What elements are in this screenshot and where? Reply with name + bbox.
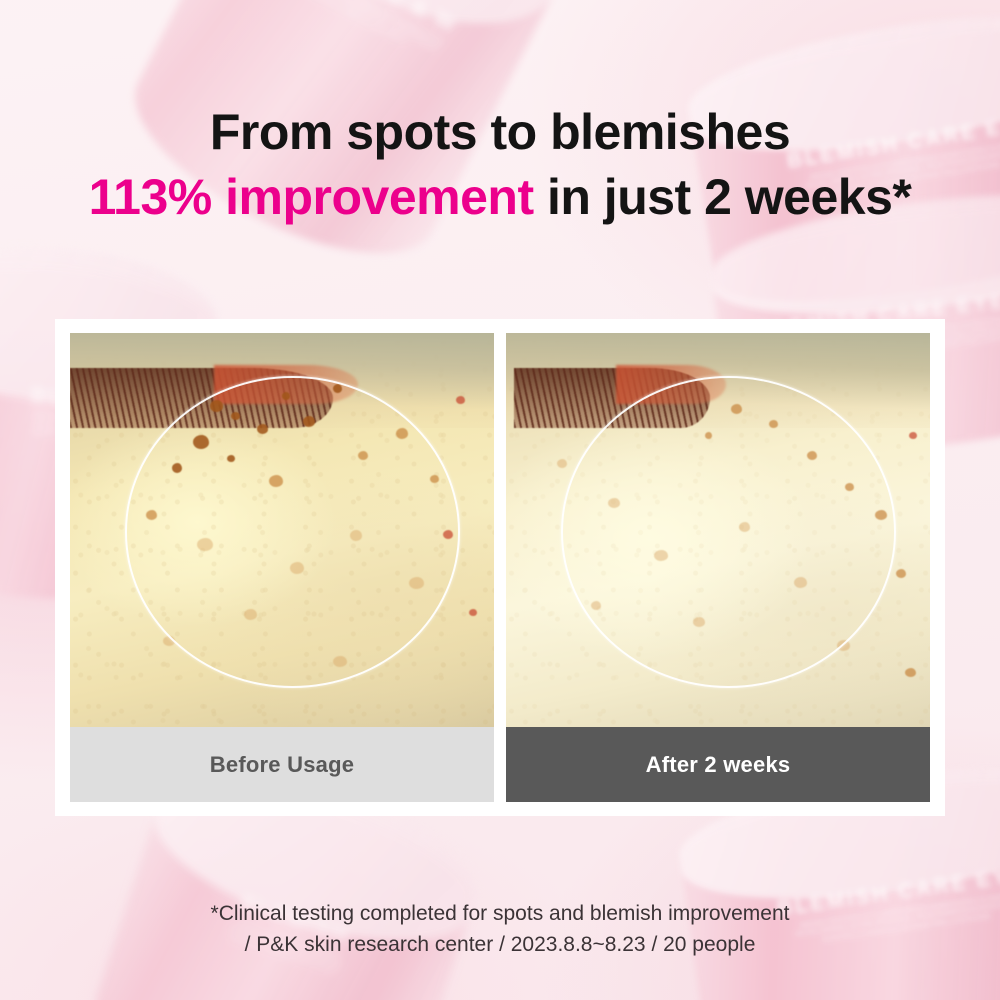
footnote: *Clinical testing completed for spots an… — [0, 898, 1000, 960]
highlight-circle-after — [561, 376, 896, 687]
red-blemish-spot — [456, 396, 465, 404]
comparison-panes: Before Usage — [70, 333, 930, 802]
before-after-comparison-card: Before Usage — [55, 319, 945, 816]
footnote-line-1: *Clinical testing completed for spots an… — [0, 898, 1000, 929]
headline-line-1: From spots to blemishes — [0, 101, 1000, 163]
red-blemish-spot — [909, 432, 917, 439]
before-photo — [70, 333, 494, 727]
headline-line-2-rest: in just 2 weeks* — [534, 169, 912, 225]
comparison-pane-after: After 2 weeks — [506, 333, 930, 802]
promo-banner: CARE EYE & W #ROSA CENTIFOLIA FLOWER#ROS… — [0, 0, 1000, 1000]
blemish-spot — [905, 668, 916, 677]
headline-accent-improvement: 113% improvement — [89, 169, 534, 225]
caption-before-usage: Before Usage — [70, 727, 494, 802]
comparison-pane-before: Before Usage — [70, 333, 494, 802]
blemish-spot — [557, 459, 567, 468]
caption-after-2-weeks: After 2 weeks — [506, 727, 930, 802]
jar-label-ingredients: #ROSA CENTIFOLIA FLOWER#ROSA DAMASCENA #… — [208, 0, 513, 96]
footnote-line-2: / P&K skin research center / 2023.8.8~8.… — [0, 929, 1000, 960]
highlight-circle-before — [125, 376, 460, 687]
after-photo — [506, 333, 930, 727]
red-blemish-spot — [469, 609, 477, 616]
headline-line-2: 113% improvement in just 2 weeks* — [0, 166, 1000, 228]
